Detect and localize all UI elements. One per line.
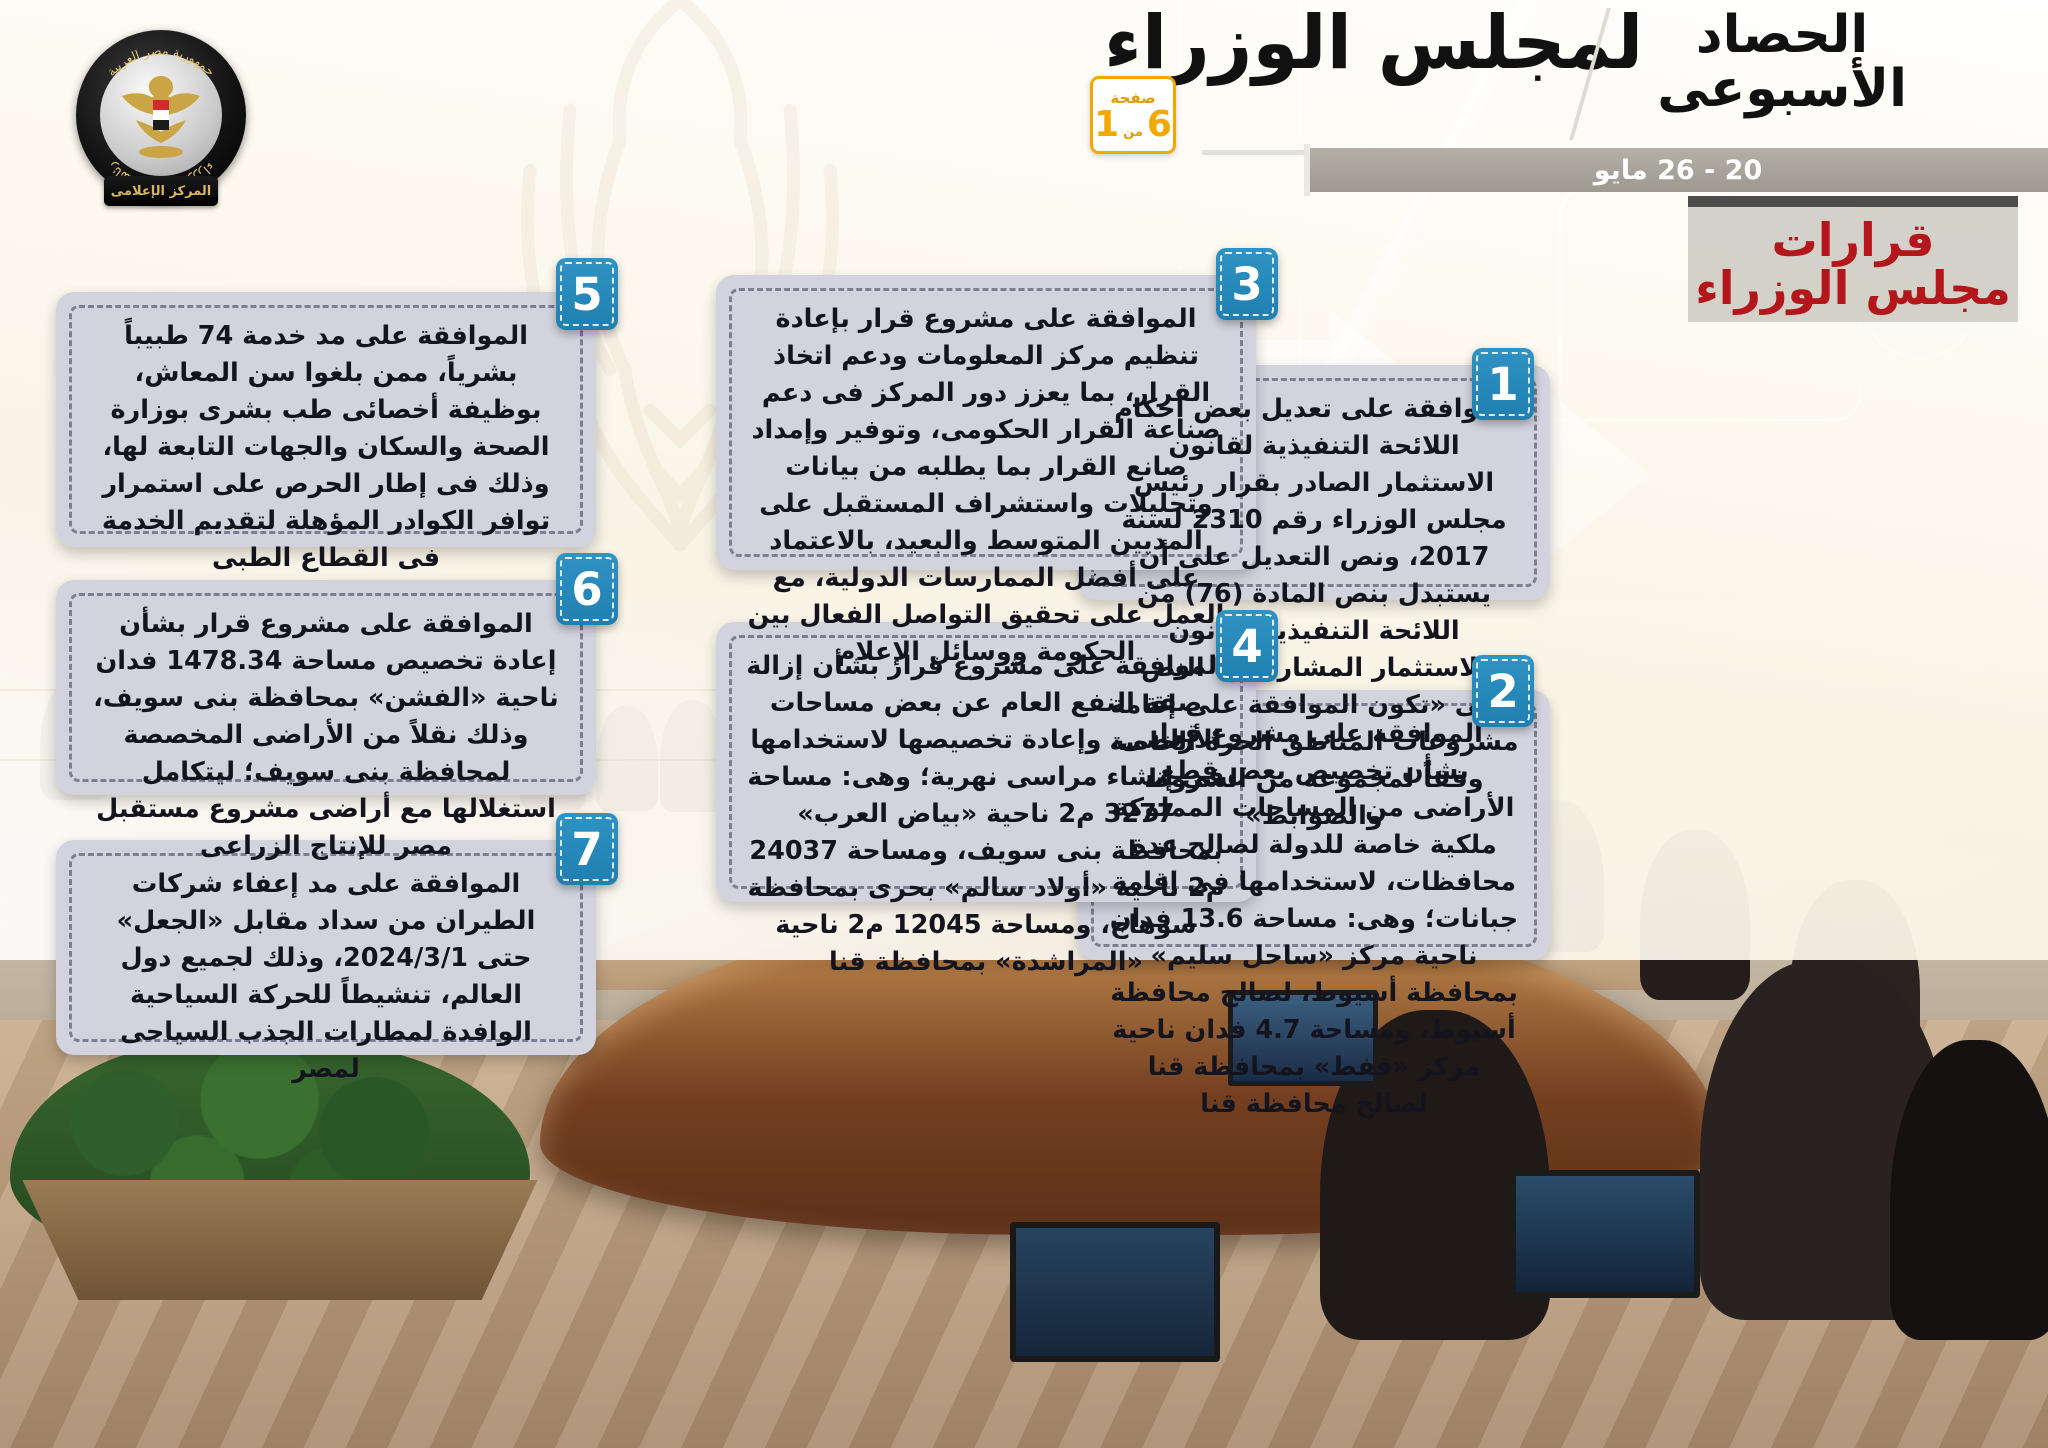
page-subtitle-line1: الحصاد	[1657, 8, 1907, 62]
date-range-bar: 20 - 26 مايو	[1308, 148, 2048, 192]
decision-number: 1	[1487, 358, 1518, 411]
decision-card-text: الموافقة على مشروع قرار بشأن إزالة صفة ا…	[716, 622, 1256, 1007]
decision-number-badge: 4	[1216, 610, 1278, 682]
section-heading-line1: قرارات	[1772, 217, 1935, 264]
government-seal-logo: جمهورية مصر العربية رئاسة مجلس الوزراء ا…	[60, 24, 260, 214]
decision-number: 6	[571, 563, 602, 616]
decision-number-badge: 1	[1472, 348, 1534, 420]
page-subtitle-line2: الأسبوعى	[1657, 62, 1907, 116]
decision-card: الموافقة على مشروع قرار بإعادة تنظيم مرك…	[716, 275, 1256, 570]
date-range-label: 20 - 26 مايو	[1594, 155, 1763, 186]
date-bar-edge	[1304, 144, 1310, 196]
page-subtitle: الحصاد الأسبوعى	[1657, 6, 1907, 116]
decision-number-badge: 2	[1472, 655, 1534, 727]
decision-card: الموافقة على مد إعفاء شركات الطيران من س…	[56, 840, 596, 1055]
page-counter-total: 6	[1147, 107, 1172, 143]
poster-title-block: لمجلس الوزراء الحصاد الأسبوعى	[1104, 6, 2004, 116]
decision-number-badge: 3	[1216, 248, 1278, 320]
laptop-screen	[1010, 1222, 1220, 1362]
page-counter-of: من	[1123, 125, 1143, 140]
page-counter-current: 1	[1094, 107, 1119, 143]
decision-number-badge: 6	[556, 553, 618, 625]
decision-card: الموافقة على مد خدمة 74 طبيباً بشرياً، م…	[56, 292, 596, 547]
media-center-badge: المركز الإعلامى	[104, 176, 218, 206]
decision-card-text: الموافقة على مد إعفاء شركات الطيران من س…	[56, 840, 596, 1114]
eagle-of-saladin-icon	[118, 70, 204, 162]
section-heading-line2: مجلس الوزراء	[1695, 265, 2011, 312]
page-counter-badge: صفحة 1 من 6	[1090, 76, 1176, 154]
decision-card: الموافقة على مشروع قرار بشأن إعادة تخصيص…	[56, 580, 596, 795]
decision-number: 7	[571, 823, 602, 876]
section-heading: قرارات مجلس الوزراء	[1688, 196, 2018, 322]
decision-card: الموافقة على مشروع قرار بشأن إزالة صفة ا…	[716, 622, 1256, 902]
page-title: لمجلس الوزراء	[1104, 6, 1643, 81]
decision-number-badge: 5	[556, 258, 618, 330]
infographic-poster: مجلس الوزراء	[0, 0, 2048, 1448]
decision-number: 2	[1487, 665, 1518, 718]
decision-number-badge: 7	[556, 813, 618, 885]
laptop-screen	[1510, 1170, 1700, 1298]
decision-number: 5	[571, 268, 602, 321]
decision-card-text: الموافقة على مد خدمة 74 طبيباً بشرياً، م…	[56, 292, 596, 603]
decision-number: 4	[1231, 620, 1262, 673]
decision-number: 3	[1231, 258, 1262, 311]
